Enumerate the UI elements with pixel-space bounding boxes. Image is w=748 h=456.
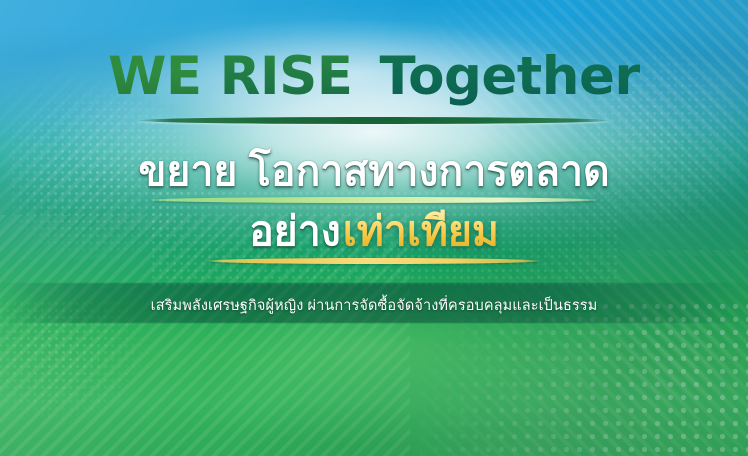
headline-we-rise-together: WE RISE Together (0, 50, 748, 103)
thai-headline-line-2: อย่างเท่าเทียม (0, 210, 748, 253)
thai-line-2-underline (206, 258, 542, 264)
headline-word-rise: RISE (220, 46, 353, 107)
headline-word-we: WE (108, 46, 202, 107)
headline-swoosh-divider (138, 117, 610, 124)
headline-word-together: Together (379, 46, 640, 107)
banner-subtitle: เสริมพลังเศรษฐกิจผู้หญิง ผ่านการจัดซื้อจ… (0, 294, 748, 317)
thai-line-2-gold-text: เท่าเทียม (343, 208, 499, 254)
thai-headline-line-1: ขยาย โอกาสทางการตลาด (0, 150, 748, 193)
banner-content: WE RISE Together ขยาย โอกาสทางการตลาด อย… (0, 0, 748, 456)
thai-line-2-white-text: อย่าง (249, 208, 341, 254)
thai-line-1-underline (148, 197, 600, 203)
banner-root: WE RISE Together ขยาย โอกาสทางการตลาด อย… (0, 0, 748, 456)
